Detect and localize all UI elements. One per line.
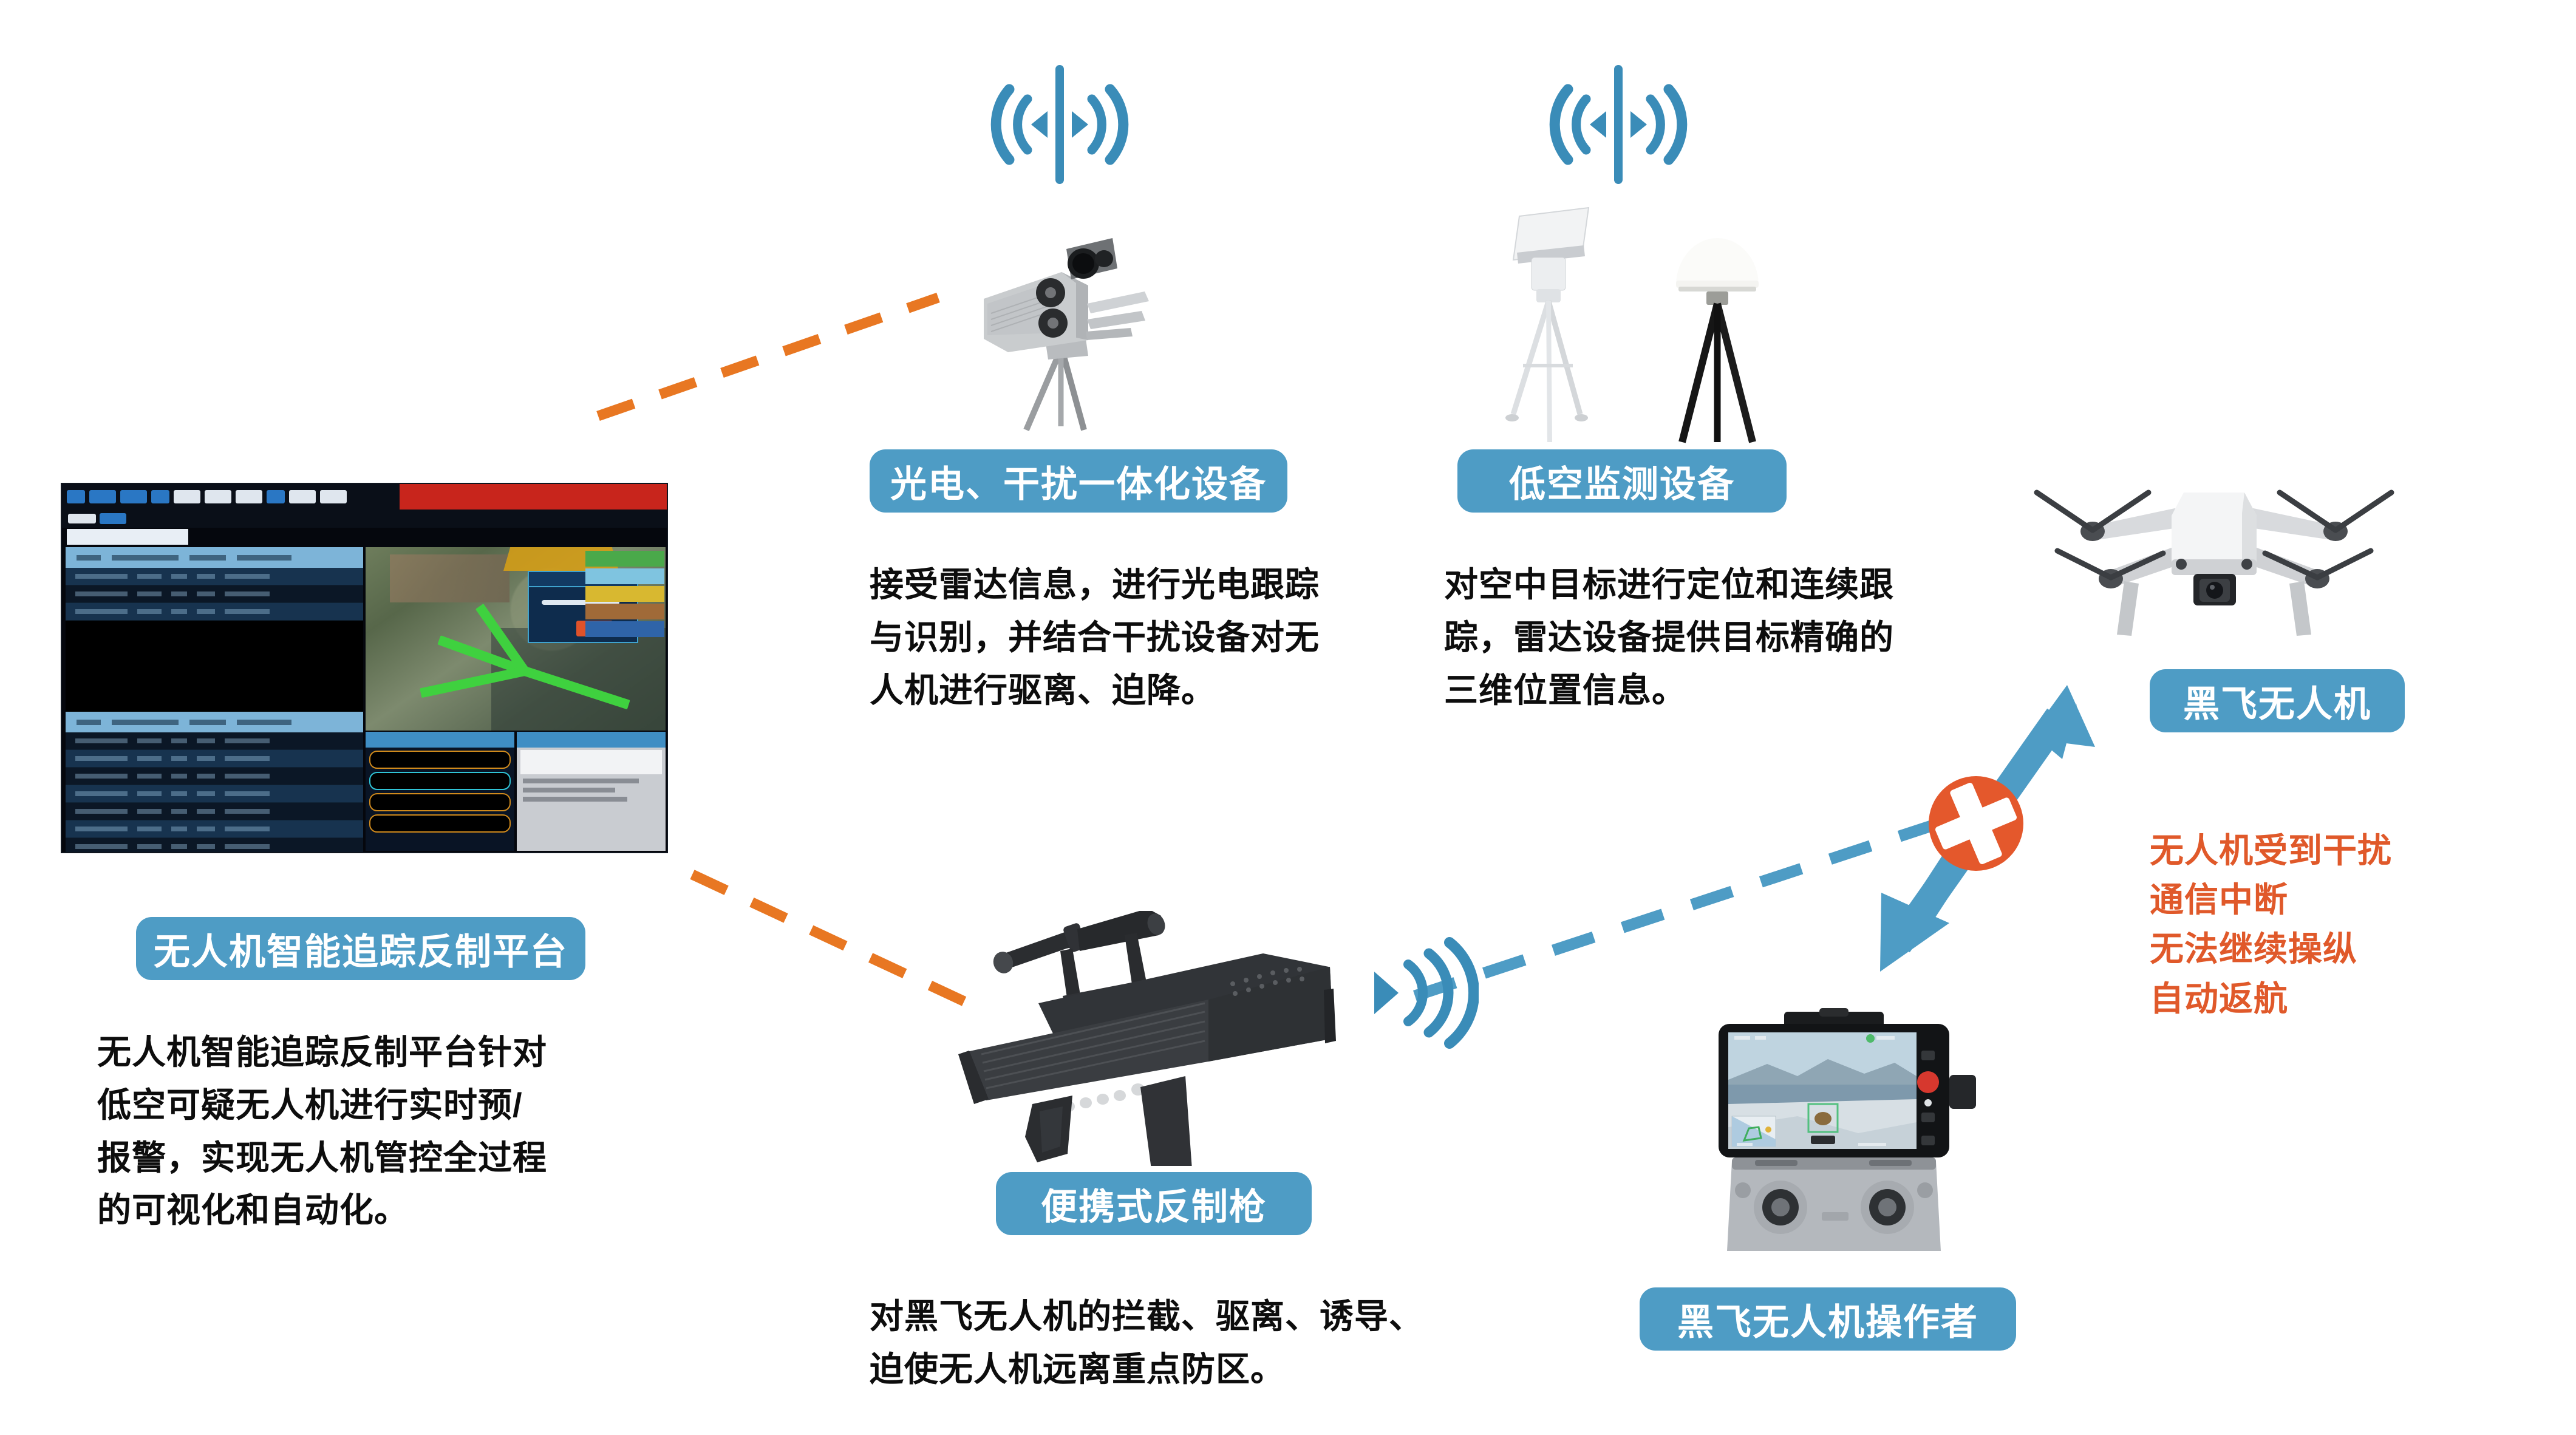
- platform-bottom-panels: [366, 732, 666, 851]
- label-optic-jammer-text: 光电、干扰一体化设备: [890, 455, 1267, 508]
- dashed-link-platform-to-gun: [692, 874, 966, 1002]
- plus-break-badge: [1915, 763, 2037, 884]
- label-portable-gun[interactable]: 便携式反制枪: [996, 1172, 1312, 1235]
- dashed-link-platform-to-optic: [598, 298, 938, 416]
- portable-jammer-gun: [947, 911, 1409, 1166]
- diagram-canvas: 光电、干扰一体化设备 低空监测设备 黑飞无人机 无人机智能追踪反制平台 便携式反…: [0, 0, 2576, 1435]
- label-optic-jammer[interactable]: 光电、干扰一体化设备: [870, 449, 1287, 513]
- panel-radar-icon: [1505, 208, 1589, 442]
- drone-remote-controller: [1676, 1008, 1992, 1251]
- label-portable-gun-text: 便携式反制枪: [1041, 1178, 1267, 1230]
- platform-tab: [67, 529, 188, 545]
- dome-antenna-icon: [1676, 238, 1759, 442]
- rf-signal-icon-monitor: [1512, 64, 1725, 185]
- label-low-altitude-monitor[interactable]: 低空监测设备: [1457, 449, 1787, 513]
- label-platform[interactable]: 无人机智能追踪反制平台: [136, 917, 585, 980]
- description-platform: 无人机智能追踪反制平台针对 低空可疑无人机进行实时预/ 报警，实现无人机管控全过…: [97, 1026, 644, 1237]
- label-platform-text: 无人机智能追踪反制平台: [154, 922, 568, 975]
- description-optic-jammer: 接受雷达信息，进行光电跟踪 与识别，并结合干扰设备对无 人机进行驱离、迫降。: [870, 559, 1368, 717]
- label-rogue-drone-text: 黑飞无人机: [2183, 675, 2371, 728]
- description-portable-gun: 对黑飞无人机的拦截、驱离、诱导、 迫使无人机远离重点防区。: [870, 1290, 1513, 1396]
- radar-and-dome-antenna: [1476, 188, 1779, 443]
- label-drone-operator[interactable]: 黑飞无人机操作者: [1640, 1287, 2016, 1351]
- label-rogue-drone[interactable]: 黑飞无人机: [2150, 669, 2405, 732]
- platform-alarm-banner: [400, 484, 667, 510]
- optical-jammer-device: [935, 200, 1190, 431]
- rf-signal-icon-optic: [953, 64, 1166, 185]
- platform-subbar: [62, 510, 667, 528]
- control-platform-screenshot: [61, 483, 668, 853]
- rf-wave-icon-gun: [1363, 935, 1479, 1051]
- label-drone-operator-text: 黑飞无人机操作者: [1677, 1293, 1978, 1346]
- platform-toolbar: [62, 484, 667, 510]
- label-low-altitude-monitor-text: 低空监测设备: [1509, 455, 1735, 508]
- platform-map: [366, 547, 666, 731]
- platform-target-list: [66, 547, 363, 850]
- drone-status-warning: 无人机受到干扰 通信中断 无法继续操纵 自动返航: [2150, 826, 2575, 1023]
- description-low-altitude-monitor: 对空中目标进行定位和连续跟 踪，雷达设备提供目标精确的 三维位置信息。: [1444, 559, 1942, 717]
- dashed-link-gun-to-drone: [1415, 826, 1931, 996]
- quadcopter-drone: [2004, 434, 2423, 653]
